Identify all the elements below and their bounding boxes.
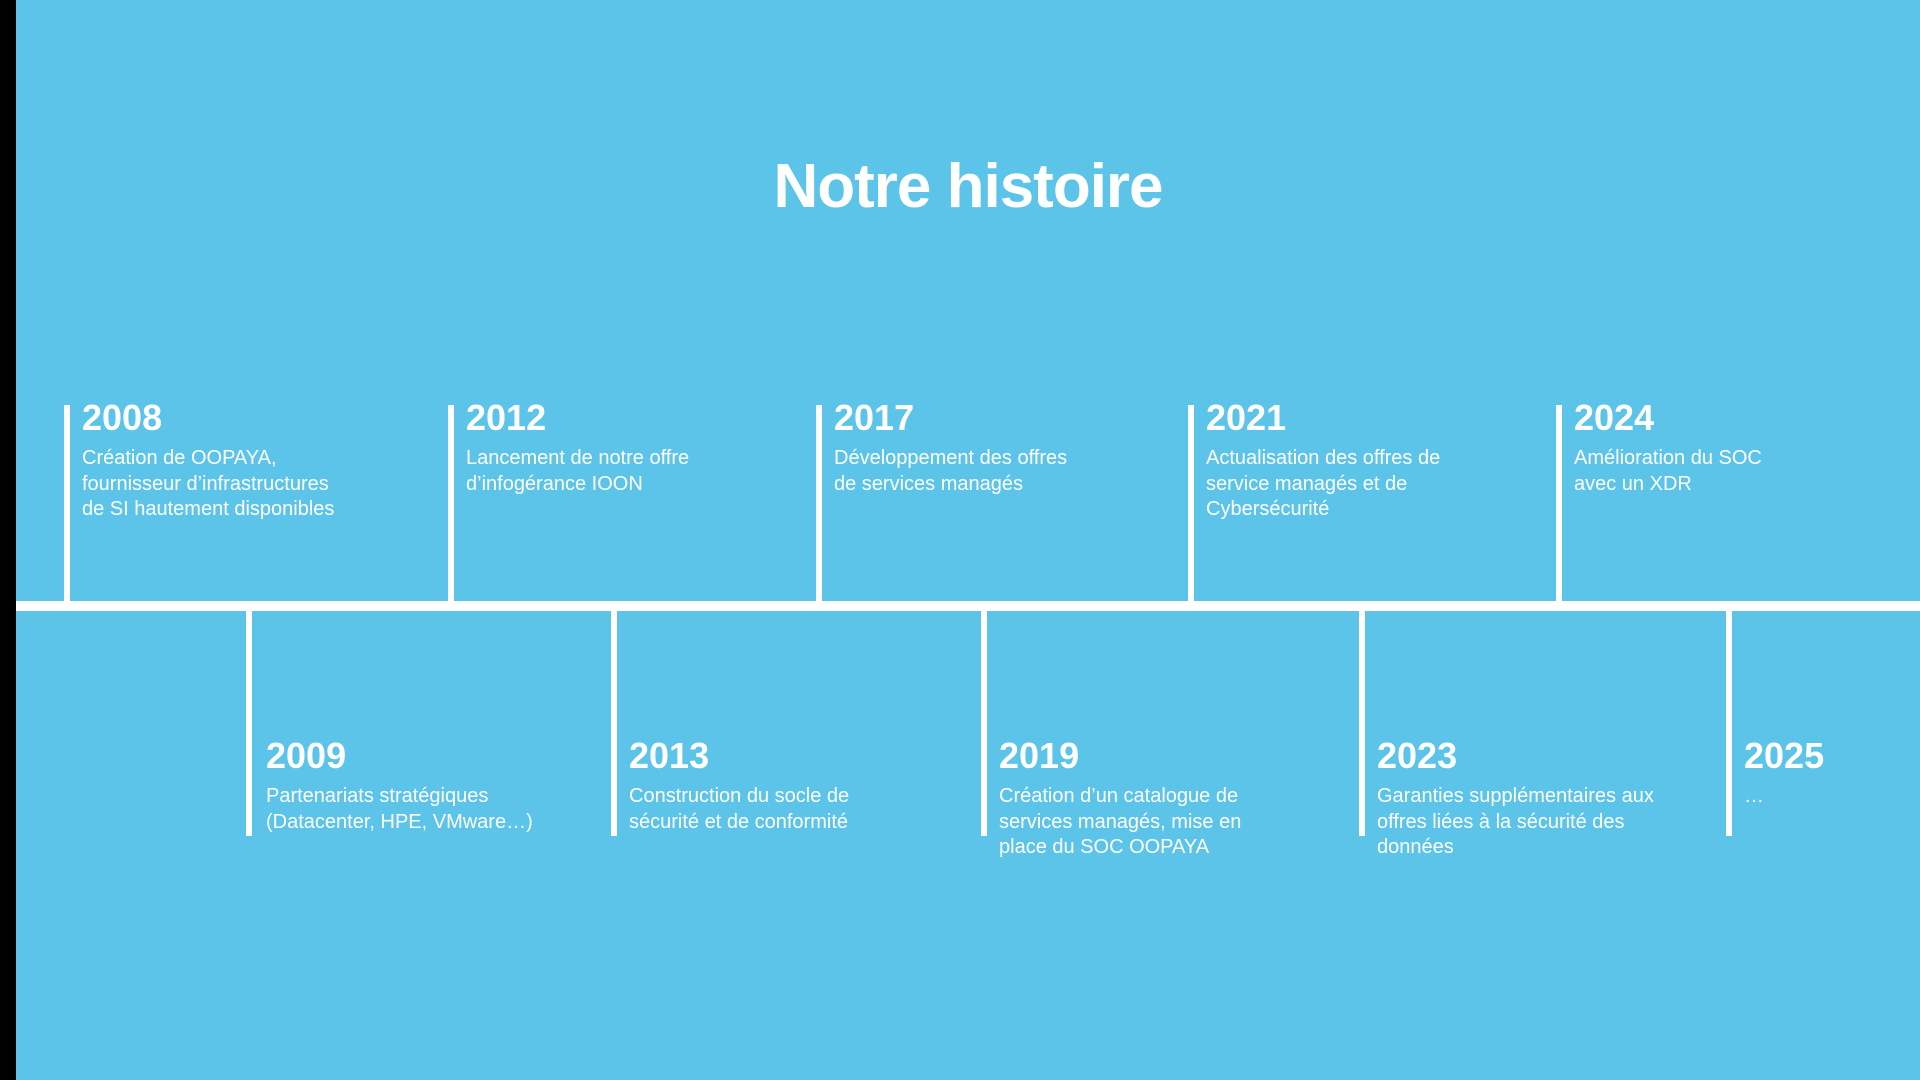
event-description: … bbox=[1744, 784, 1914, 810]
event-year: 2021 bbox=[1206, 400, 1526, 436]
event-description: Actualisation des offres de service mana… bbox=[1206, 446, 1526, 523]
event-description: Création d’un catalogue de services mana… bbox=[999, 784, 1319, 861]
event-year: 2024 bbox=[1574, 400, 1894, 436]
timeline-event-2025: 2025 … bbox=[1744, 738, 1914, 810]
timeline-tick-2013 bbox=[611, 608, 617, 836]
event-year: 2025 bbox=[1744, 738, 1914, 774]
timeline-tick-2008 bbox=[64, 405, 70, 605]
timeline-event-2008: 2008 Création de OOPAYA, fournisseur d’i… bbox=[82, 400, 412, 523]
timeline-tick-2024 bbox=[1556, 405, 1562, 605]
timeline-event-2023: 2023 Garanties supplémentaires aux offre… bbox=[1377, 738, 1722, 861]
event-year: 2008 bbox=[82, 400, 412, 436]
timeline-tick-2023 bbox=[1359, 608, 1365, 836]
timeline-event-2019: 2019 Création d’un catalogue de services… bbox=[999, 738, 1319, 861]
timeline-event-2024: 2024 Amélioration du SOC avec un XDR bbox=[1574, 400, 1894, 497]
event-description: Garanties supplémentaires aux offres lié… bbox=[1377, 784, 1722, 861]
timeline-axis bbox=[0, 601, 1920, 611]
event-year: 2009 bbox=[266, 738, 596, 774]
timeline-event-2013: 2013 Construction du socle de sécurité e… bbox=[629, 738, 949, 835]
left-edge-band bbox=[0, 0, 16, 1080]
timeline-tick-2021 bbox=[1188, 405, 1194, 605]
event-year: 2012 bbox=[466, 400, 786, 436]
timeline-event-2009: 2009 Partenariats stratégiques (Datacent… bbox=[266, 738, 596, 835]
event-description: Amélioration du SOC avec un XDR bbox=[1574, 446, 1894, 497]
event-description: Création de OOPAYA, fournisseur d’infras… bbox=[82, 446, 412, 523]
event-description: Partenariats stratégiques (Datacenter, H… bbox=[266, 784, 596, 835]
event-description: Construction du socle de sécurité et de … bbox=[629, 784, 949, 835]
event-year: 2019 bbox=[999, 738, 1319, 774]
timeline-tick-2009 bbox=[246, 608, 252, 836]
event-year: 2023 bbox=[1377, 738, 1722, 774]
timeline-tick-2017 bbox=[816, 405, 822, 605]
event-year: 2017 bbox=[834, 400, 1154, 436]
event-description: Développement des offres de services man… bbox=[834, 446, 1154, 497]
slide-canvas: Notre histoire 2008 Création de OOPAYA, … bbox=[16, 0, 1920, 1080]
timeline-event-2021: 2021 Actualisation des offres de service… bbox=[1206, 400, 1526, 523]
timeline-tick-2012 bbox=[448, 405, 454, 605]
event-description: Lancement de notre offre d’infogérance I… bbox=[466, 446, 786, 497]
timeline-event-2017: 2017 Développement des offres de service… bbox=[834, 400, 1154, 497]
timeline-event-2012: 2012 Lancement de notre offre d’infogéra… bbox=[466, 400, 786, 497]
event-year: 2013 bbox=[629, 738, 949, 774]
timeline-tick-2019 bbox=[981, 608, 987, 836]
timeline-tick-2025 bbox=[1726, 608, 1732, 836]
page-title: Notre histoire bbox=[16, 154, 1920, 219]
